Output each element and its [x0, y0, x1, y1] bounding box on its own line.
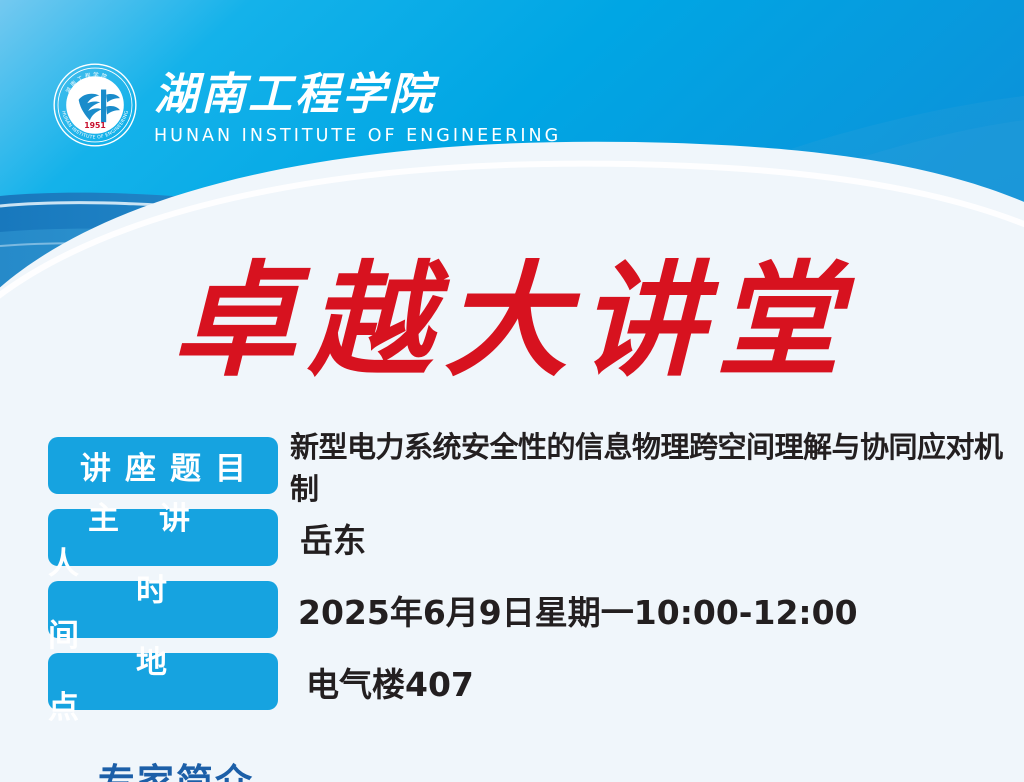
- university-logo-lockup: 1951 湖南工程学院 HUNAN INSTITUTE OF ENGINEERI…: [52, 62, 561, 148]
- lecture-poster: 1951 湖南工程学院 HUNAN INSTITUTE OF ENGINEERI…: [0, 0, 1024, 782]
- info-value-lecture-topic: 新型电力系统安全性的信息物理跨空间理解与协同应对机制: [278, 437, 1008, 494]
- page-title: 卓越大讲堂: [0, 236, 1024, 410]
- info-value-speaker: 岳东: [278, 509, 1008, 566]
- info-label-datetime: 时间: [48, 581, 278, 638]
- svg-text:湖南工程学院: 湖南工程学院: [154, 69, 440, 120]
- info-label-speaker: 主讲人: [48, 509, 278, 566]
- university-name-en: HUNAN INSTITUTE OF ENGINEERING: [154, 128, 561, 146]
- info-row-speaker: 主讲人 岳东: [48, 509, 1008, 571]
- info-row-lecture-topic: 讲座题目 新型电力系统安全性的信息物理跨空间理解与协同应对机制: [48, 437, 1008, 499]
- svg-text:1951: 1951: [84, 121, 106, 130]
- info-row-location: 地点 电气楼407: [48, 653, 1008, 715]
- page-title-text: 卓越大讲堂: [172, 250, 855, 394]
- info-row-datetime: 时间 2025年6月9日星期一10:00-12:00: [48, 581, 1008, 643]
- page-title-calligraphy: 卓越大讲堂: [162, 236, 862, 406]
- university-name-cn: 湖南工程学院: [154, 67, 472, 121]
- info-value-datetime: 2025年6月9日星期一10:00-12:00: [278, 581, 1008, 638]
- lecture-info-list: 讲座题目 新型电力系统安全性的信息物理跨空间理解与协同应对机制 主讲人 岳东 时…: [48, 437, 1008, 725]
- section-heading-expert-bio: 专家简介: [98, 752, 254, 782]
- info-label-lecture-topic: 讲座题目: [48, 437, 278, 494]
- hunan-institute-seal-logo-icon: 1951 湖南工程学院 HUNAN INSTITUTE OF ENGINEERI…: [52, 62, 138, 148]
- info-value-location: 电气楼407: [278, 653, 1008, 710]
- info-label-location: 地点: [48, 653, 278, 710]
